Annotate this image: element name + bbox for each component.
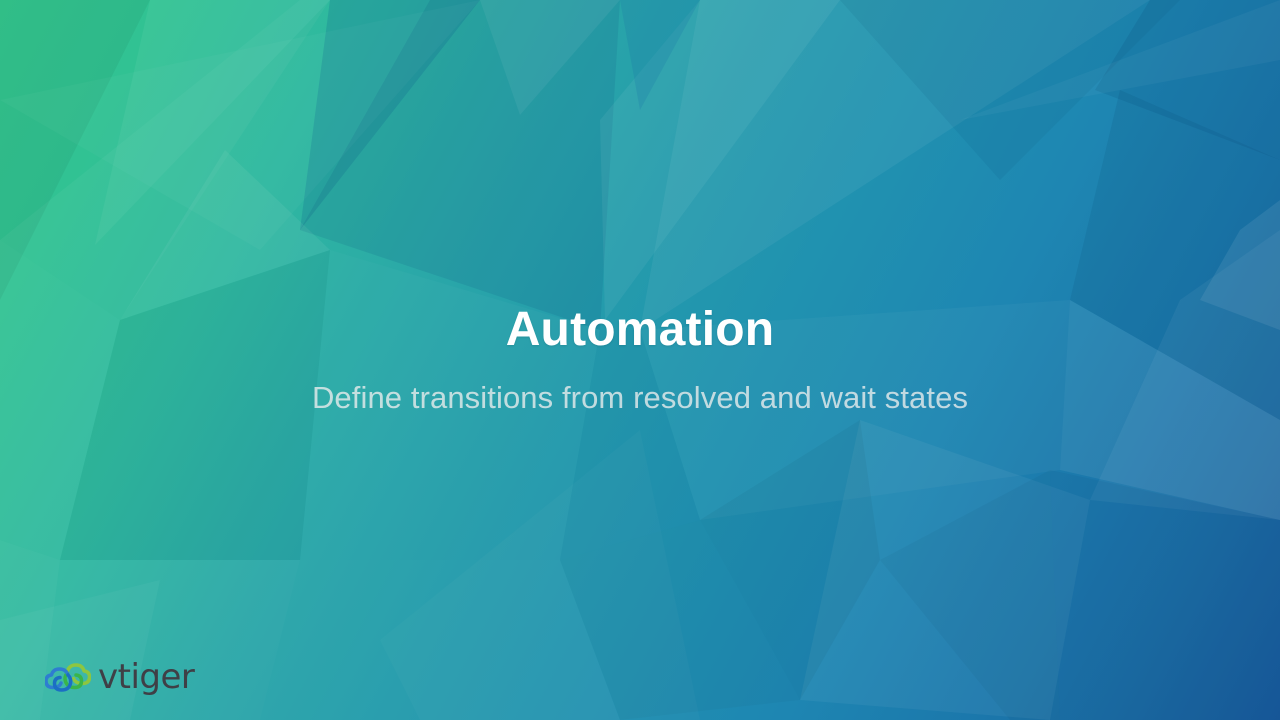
vtiger-wordmark: vtiger xyxy=(98,660,194,694)
slide-content: Automation Define transitions from resol… xyxy=(0,0,1280,720)
slide-subtitle: Define transitions from resolved and wai… xyxy=(312,381,968,415)
vtiger-cloud-icon xyxy=(45,658,91,696)
vtiger-logo: vtiger xyxy=(45,656,194,698)
slide-title: Automation xyxy=(506,305,775,355)
presentation-slide: Automation Define transitions from resol… xyxy=(0,0,1280,720)
